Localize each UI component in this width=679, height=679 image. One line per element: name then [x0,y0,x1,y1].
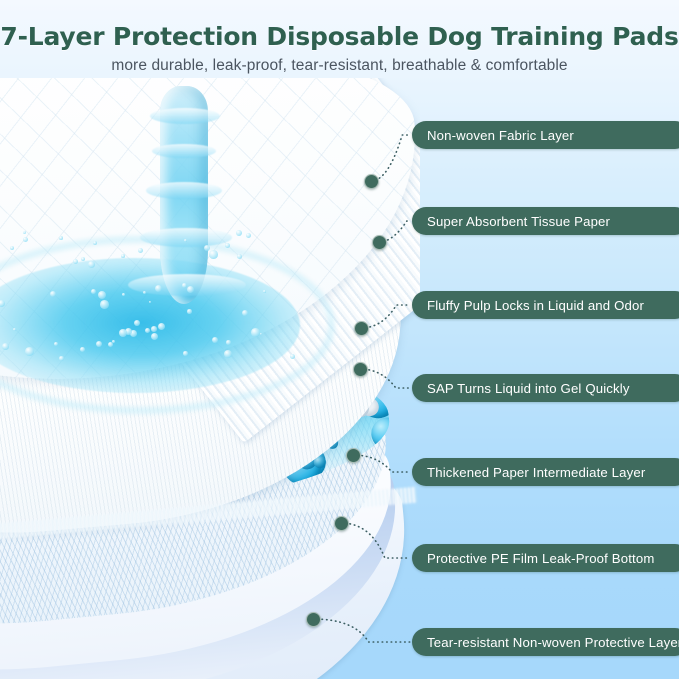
callout-pill-6[interactable]: Protective PE Film Leak-Proof Bottom [412,544,679,572]
callout-pill-1[interactable]: Non-woven Fabric Layer [412,121,679,149]
callout-pill-4[interactable]: SAP Turns Liquid into Gel Quickly [412,374,679,402]
leader-line-4 [360,369,410,388]
callout-group: Non-woven Fabric LayerSuper Absorbent Ti… [0,0,679,679]
leader-line-7 [313,619,410,642]
callout-anchor-dot-2 [372,235,387,250]
callout-anchor-dot-7 [306,612,321,627]
callout-label: Non-woven Fabric Layer [427,128,574,143]
leader-line-1 [371,135,410,181]
callout-label: SAP Turns Liquid into Gel Quickly [427,381,630,396]
callout-pill-3[interactable]: Fluffy Pulp Locks in Liquid and Odor [412,291,679,319]
callout-pill-7[interactable]: Tear-resistant Non-woven Protective Laye… [412,628,679,656]
callout-label: Tear-resistant Non-woven Protective Laye… [427,635,679,650]
leader-lines [0,0,679,679]
callout-anchor-dot-6 [334,516,349,531]
leader-line-6 [341,523,410,558]
leader-line-5 [353,455,410,472]
callout-pill-5[interactable]: Thickened Paper Intermediate Layer [412,458,679,486]
callout-anchor-dot-4 [353,362,368,377]
callout-pill-2[interactable]: Super Absorbent Tissue Paper [412,207,679,235]
callout-anchor-dot-3 [354,321,369,336]
callout-anchor-dot-1 [364,174,379,189]
callout-label: Protective PE Film Leak-Proof Bottom [427,551,654,566]
callout-label: Super Absorbent Tissue Paper [427,214,610,229]
callout-label: Fluffy Pulp Locks in Liquid and Odor [427,298,644,313]
callout-anchor-dot-5 [346,448,361,463]
callout-label: Thickened Paper Intermediate Layer [427,465,645,480]
